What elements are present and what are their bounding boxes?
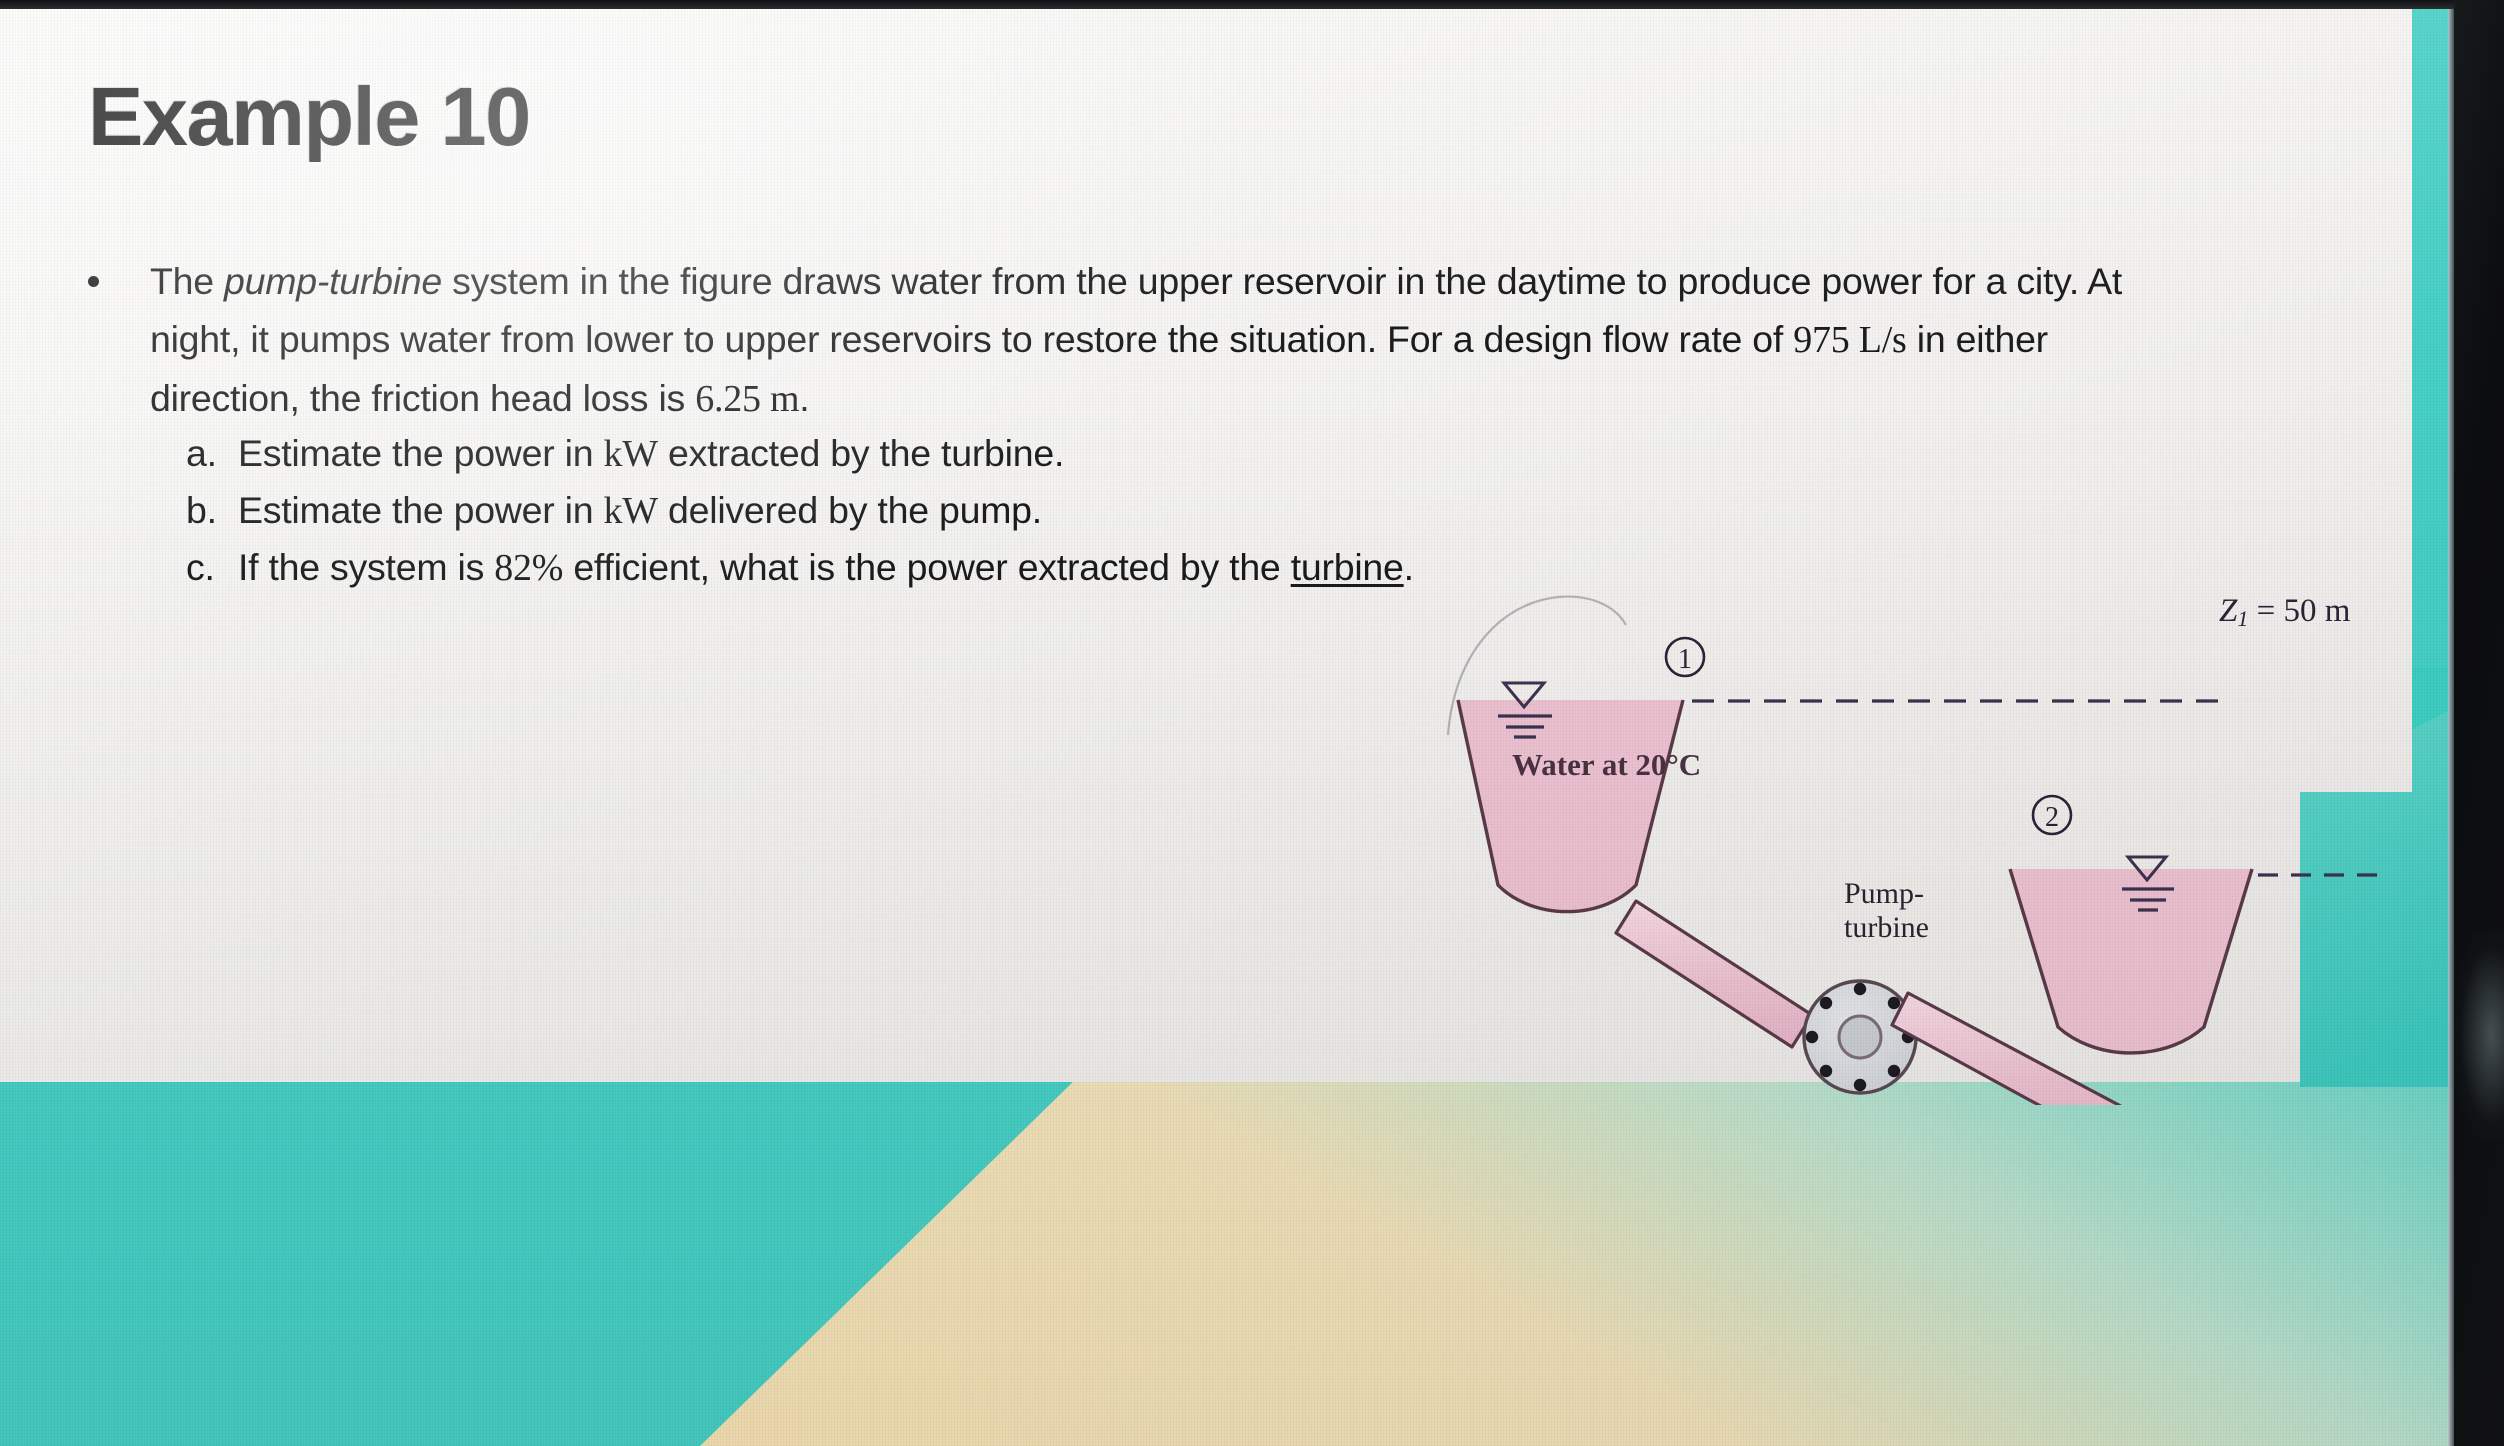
pump-turbine-label-line1: Pump- bbox=[1844, 877, 1929, 911]
efficiency-value: 82% bbox=[494, 547, 563, 589]
pump-turbine-hub bbox=[1839, 1016, 1881, 1058]
list-text-b: Estimate the power in kW delivered by th… bbox=[238, 482, 1042, 539]
upper-reservoir-fill bbox=[1458, 700, 1683, 912]
sub-question-list: a. Estimate the power in kW extracted by… bbox=[186, 425, 1986, 596]
list-marker-c: c. bbox=[186, 539, 238, 596]
list-c-post: efficient, what is the power extracted b… bbox=[563, 546, 1291, 588]
pump-turbine-label: Pump- turbine bbox=[1844, 877, 1929, 945]
list-c-pre: If the system is bbox=[238, 546, 494, 588]
z1-value: = 50 m bbox=[2257, 593, 2351, 629]
list-text-a: Estimate the power in kW extracted by th… bbox=[238, 425, 1064, 482]
station-1-number: 1 bbox=[1678, 644, 1692, 675]
bullet-seg-0: The bbox=[150, 260, 224, 302]
photographed-screen: Example 10 The pump-turbine system in th… bbox=[0, 0, 2504, 1446]
monitor-bezel-reflection bbox=[2454, 930, 2504, 1140]
list-item-a: a. Estimate the power in kW extracted by… bbox=[186, 425, 1986, 482]
bullet-seg-italic-pump-turbine: pump-turbine bbox=[224, 260, 442, 302]
bullet-paragraph: The pump-turbine system in the figure dr… bbox=[150, 252, 2200, 428]
page-title: Example 10 bbox=[88, 69, 530, 165]
list-a-unit: kW bbox=[604, 433, 658, 475]
bullet-seg-6: . bbox=[799, 377, 809, 419]
station-2-number: 2 bbox=[2045, 802, 2059, 833]
list-b-pre: Estimate the power in bbox=[238, 489, 604, 531]
bullet-dot-icon bbox=[88, 276, 99, 287]
flow-rate-value: 975 L/s bbox=[1793, 319, 1906, 361]
list-b-post: delivered by the pump. bbox=[658, 489, 1042, 531]
list-a-post: extracted by the turbine. bbox=[658, 432, 1064, 474]
list-c-tail: . bbox=[1404, 546, 1414, 588]
list-text-c: If the system is 82% efficient, what is … bbox=[238, 539, 1414, 596]
lower-reservoir-fill bbox=[2010, 869, 2252, 1053]
monitor-bezel-right bbox=[2454, 0, 2504, 1446]
list-item-b: b. Estimate the power in kW delivered by… bbox=[186, 482, 1986, 539]
pump-turbine-figure: 1 bbox=[1440, 585, 2440, 1105]
monitor-bezel-top bbox=[0, 0, 2504, 9]
list-a-pre: Estimate the power in bbox=[238, 432, 604, 474]
list-marker-b: b. bbox=[186, 482, 238, 539]
main-bullet: The pump-turbine system in the figure dr… bbox=[80, 252, 2200, 428]
list-b-unit: kW bbox=[604, 490, 658, 532]
upper-penstock-pipe bbox=[1616, 901, 1812, 1047]
friction-head-loss-value: 6.25 m bbox=[695, 378, 799, 420]
z1-subscript: 1 bbox=[2237, 606, 2248, 631]
pump-turbine-diagram-svg: 1 bbox=[1440, 585, 2440, 1105]
presentation-slide: Example 10 The pump-turbine system in th… bbox=[0, 7, 2456, 1446]
pump-turbine-label-line2: turbine bbox=[1844, 911, 1929, 945]
list-marker-a: a. bbox=[186, 425, 238, 482]
turbine-underlined-word: turbine bbox=[1291, 546, 1404, 588]
z1-symbol: Z bbox=[2219, 593, 2237, 629]
water-temperature-label: Water at 20°C bbox=[1512, 747, 1701, 783]
z1-elevation-label: Z1 = 50 m bbox=[2219, 593, 2350, 632]
